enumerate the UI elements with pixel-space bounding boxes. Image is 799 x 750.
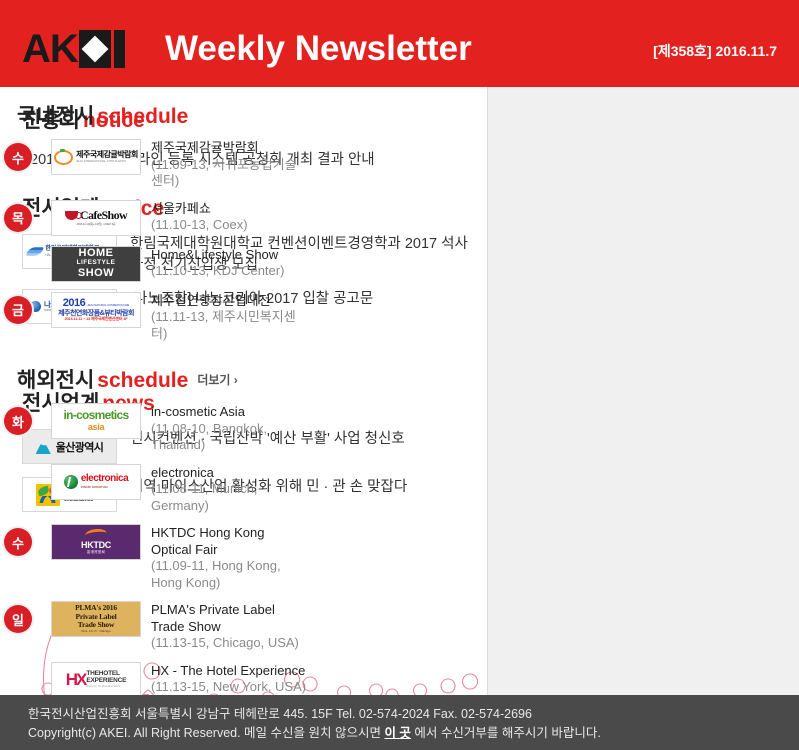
section-domestic-schedule: 국내전시schedule 수 제주국제감귤박람회 JEJU INTERNATIO…: [17, 105, 307, 342]
footer-address: 한국전시산업진흥회 서울특별시 강남구 테헤란로 445. 15F Tel. 0…: [28, 706, 532, 722]
schedule-row[interactable]: HX THEHOTEL EXPERIENCE Rooms to Restaura…: [17, 662, 307, 698]
jeju-logo-year: 2016: [63, 298, 85, 310]
day-badge: 수: [4, 528, 32, 556]
jeju-logo-en: JEJU NATURAL COSMETICS FAIR: [87, 304, 129, 307]
section-overseas-schedule: 해외전시schedule더보기 › 화 in-cosmetics asia in…: [17, 368, 307, 698]
schedule-row[interactable]: 목 CafeShow 2016.11.10(목)~13(일), COEX 3층 …: [17, 200, 307, 236]
cafeshow-logo-sub: 2016.11.10(목)~13(일), COEX 3층: [76, 223, 115, 226]
schedule-row[interactable]: 금 2016 JEJU NATURAL COSMETICS FAIR 제주천연화…: [17, 292, 307, 343]
schedule-name: 서울카페쇼: [151, 201, 248, 218]
newsletter-page: AK Weekly Newsletter [제358호] 2016.11.7: [0, 0, 799, 750]
logo-letters-ak: AK: [22, 29, 78, 69]
electronica-logo-line1: electronica: [81, 474, 128, 484]
right-column: [487, 87, 799, 695]
schedule-row[interactable]: 화 in-cosmetics asia in-cosmetic Asia (11…: [17, 403, 307, 454]
schedule-row[interactable]: 수 제주국제감귤박람회 JEJU INTERNATIONAL CITRUS EX…: [17, 139, 307, 190]
schedule-name: 제주국제감귤박람회: [151, 140, 307, 157]
schedule-name: electronica: [151, 465, 307, 482]
plma-logo: PLMA's 2016 Private Label Trade Show Nov…: [51, 601, 141, 637]
jeju-logo-date: 2016.11.11 ~ 13 제주국제컨벤션센터 1F: [65, 317, 128, 321]
schedule-name: PLMA's Private Label Trade Show: [151, 602, 307, 635]
hx-hotel-experience-logo: HX THEHOTEL EXPERIENCE Rooms to Restaura…: [51, 662, 141, 698]
home-lifestyle-show-logo: HOME LIFESTYLE SHOW: [51, 246, 141, 282]
schedule-meta: (11.11-13, 제주시민복지센터): [151, 309, 307, 342]
section-heading-ko: 해외전시: [17, 369, 94, 392]
coffee-cup-icon: [65, 211, 78, 220]
page-title: Weekly Newsletter: [165, 26, 472, 71]
schedule-name: HX - The Hotel Experience: [151, 663, 306, 680]
schedule-meta: (11.08-10, Bangkok, Thailand): [151, 421, 307, 454]
akei-logo[interactable]: AK: [22, 28, 125, 70]
citrus-icon: [54, 150, 73, 165]
day-badge: 목: [4, 204, 32, 232]
hktdc-logo: HKTDC 香港貿發局: [51, 524, 141, 560]
hktdc-logo-line1: HKTDC: [81, 541, 111, 550]
schedule-meta: (11.09-13, 서귀포농업기술센터): [151, 157, 307, 190]
page-footer: 한국전시산업진흥회 서울특별시 강남구 테헤란로 445. 15F Tel. 0…: [0, 695, 799, 750]
home-logo-line3: SHOW: [78, 268, 114, 279]
schedule-name: 제주천연향장산업대전: [151, 293, 307, 310]
schedule-row[interactable]: 수 HKTDC 香港貿發局 HKTDC Hong Kong Optical Fa…: [17, 524, 307, 591]
cafeshow-logo-text: CafeShow: [80, 209, 127, 221]
schedule-row[interactable]: HOME LIFESTYLE SHOW Home&Lifestyle Show …: [17, 246, 307, 282]
plma-logo-line3: Trade Show: [78, 621, 114, 629]
day-badge: 일: [4, 605, 32, 633]
schedule-meta: (11.13-15, New York, USA): [151, 679, 306, 696]
schedule-meta: (11.13-15, Chicago, USA): [151, 635, 307, 652]
incos-logo-line1: in-cosmetics: [64, 409, 129, 422]
footer-copyright-a: Copyright(c) AKEI. All Right Reserved. 메…: [28, 726, 384, 740]
hktdc-logo-line2: 香港貿發局: [87, 551, 106, 555]
page-header: AK Weekly Newsletter [제358호] 2016.11.7: [0, 0, 799, 87]
schedule-name: HKTDC Hong Kong Optical Fair: [151, 525, 307, 558]
electronica-mark-icon: [64, 475, 78, 489]
schedule-name: in-cosmetic Asia: [151, 404, 307, 421]
schedule-meta: (11.10-13, KDJ Center): [151, 263, 284, 280]
schedule-row[interactable]: 일 PLMA's 2016 Private Label Trade Show N…: [17, 601, 307, 652]
incos-logo-line2: asia: [88, 423, 104, 433]
schedule-meta: (11.08-11, Munich, Germany): [151, 481, 307, 514]
section-heading-en: schedule: [97, 369, 188, 392]
more-link[interactable]: 더보기 ›: [197, 373, 237, 387]
cafeshow-logo: CafeShow 2016.11.10(목)~13(일), COEX 3층: [51, 200, 141, 236]
section-heading: 해외전시schedule더보기 ›: [17, 368, 307, 393]
home-logo-line2: LIFESTYLE: [77, 260, 116, 267]
day-badge: 화: [4, 407, 32, 435]
home-logo-line1: HOME: [79, 248, 114, 259]
schedule-meta: (11.09-11, Hong Kong, Hong Kong): [151, 558, 307, 591]
section-heading-ko: 국내전시: [17, 105, 94, 128]
in-cosmetics-asia-logo: in-cosmetics asia: [51, 403, 141, 439]
jeju-citrus-expo-logo: 제주국제감귤박람회 JEJU INTERNATIONAL CITRUS EXPO: [51, 139, 141, 175]
footer-copyright-b: 에서 수신거부를 해주시기 바랍니다.: [411, 726, 601, 740]
electronica-logo-line2: inside tomorrow: [81, 485, 128, 489]
day-badge: 수: [4, 143, 32, 171]
section-heading-en: schedule: [97, 105, 188, 128]
footer-copyright: Copyright(c) AKEI. All Right Reserved. 메…: [28, 725, 601, 741]
plma-logo-line4: Nov. 13-15 · Chicago: [81, 630, 110, 634]
day-badge: 금: [4, 296, 32, 324]
logo-diamond-icon: [79, 30, 111, 68]
schedule-name: Home&Lifestyle Show: [151, 247, 284, 264]
citrus-logo-en: JEJU INTERNATIONAL CITRUS EXPO: [76, 160, 138, 163]
unsubscribe-link[interactable]: 이 곳: [384, 726, 410, 740]
column-divider: [487, 87, 488, 695]
schedule-meta: (11.10-13, Coex): [151, 217, 248, 234]
hx-logo-line4: Rooms to Restaurants: [86, 685, 126, 688]
hx-logo-initials: HX: [66, 670, 86, 690]
schedule-row[interactable]: electronica inside tomorrow electronica …: [17, 464, 307, 515]
logo-letter-i: [114, 30, 125, 68]
citrus-logo-ko: 제주국제감귤박람회: [76, 151, 138, 159]
jeju-natural-cosmetics-fair-logo: 2016 JEJU NATURAL COSMETICS FAIR 제주천연화장품…: [51, 292, 141, 328]
issue-number: [제358호] 2016.11.7: [653, 41, 777, 61]
section-heading: 국내전시schedule: [17, 105, 307, 129]
electronica-logo: electronica inside tomorrow: [51, 464, 141, 500]
